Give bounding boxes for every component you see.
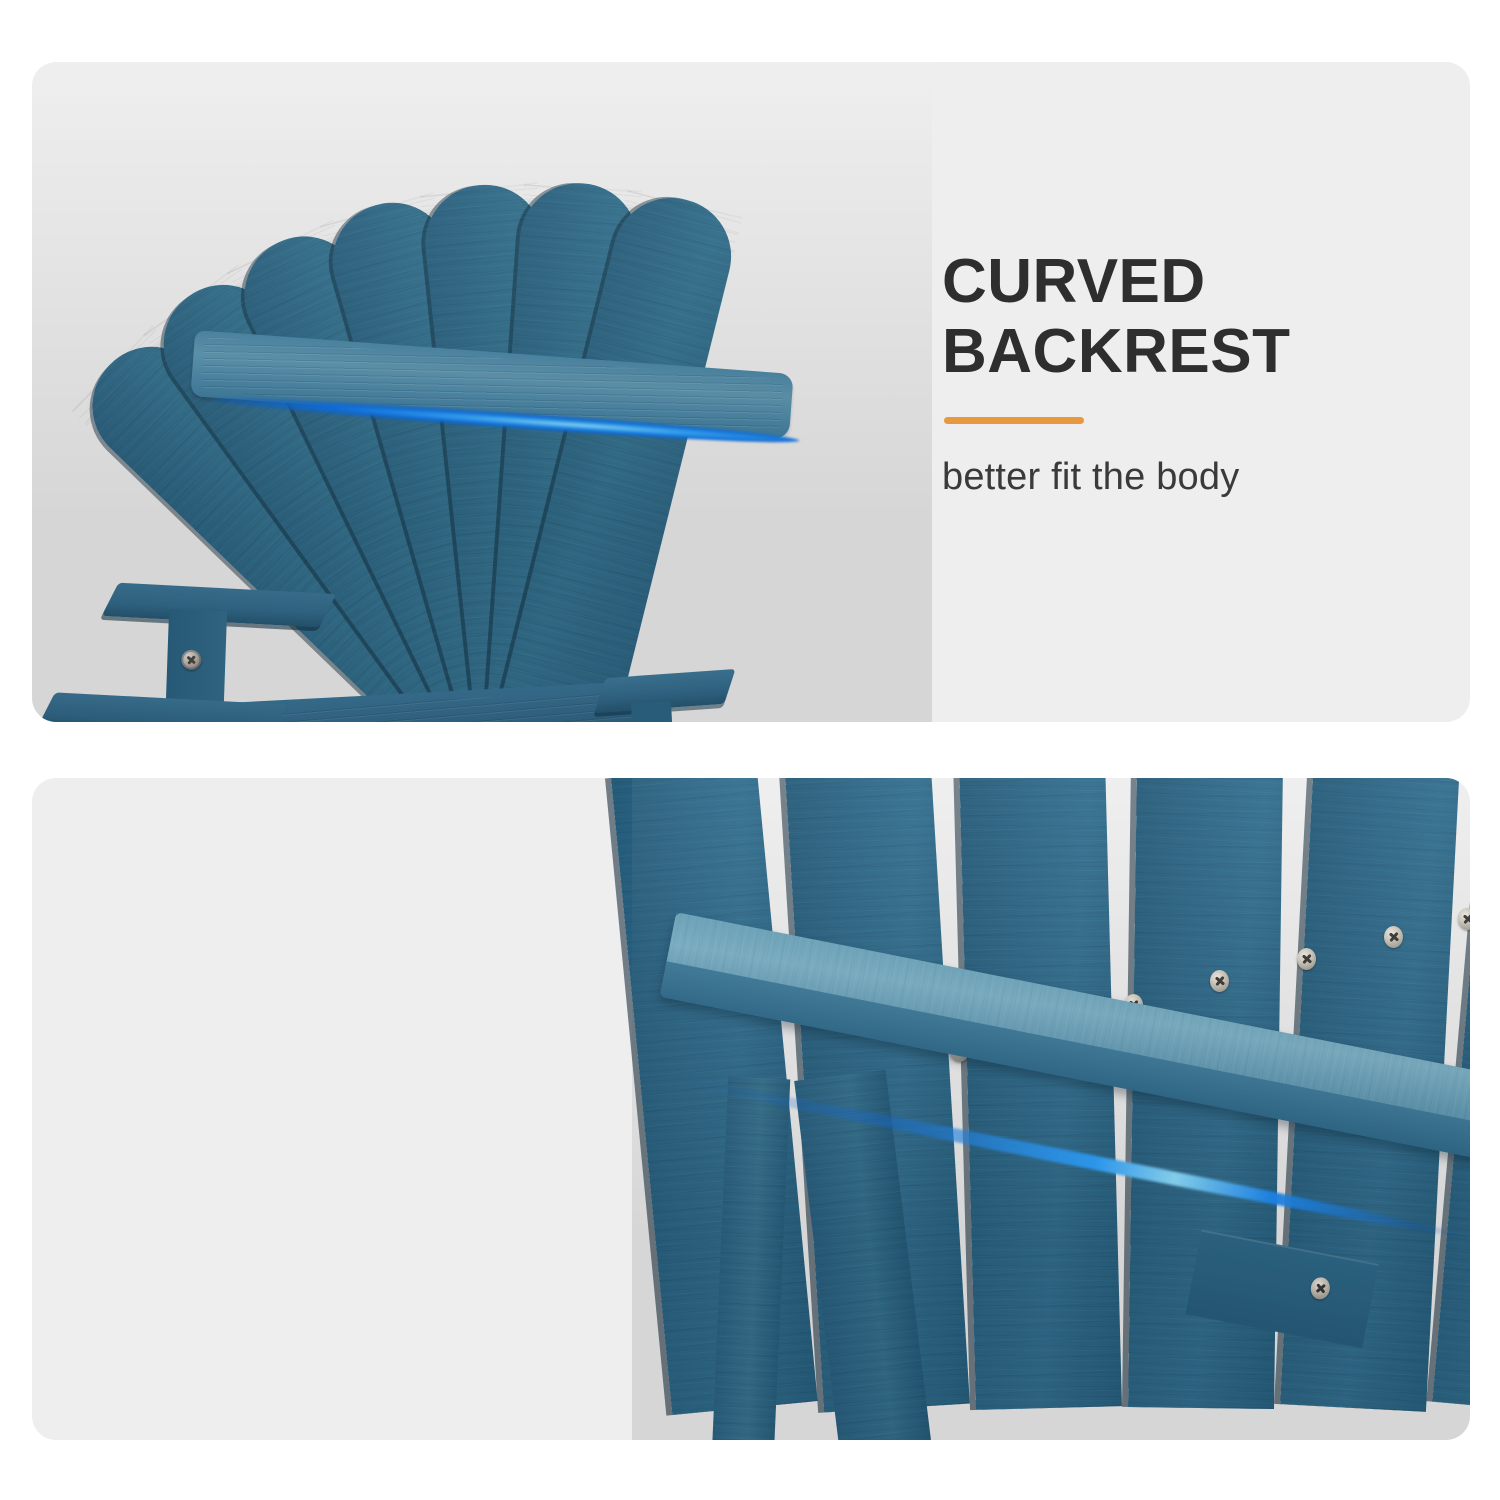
accent-rule [944, 417, 1084, 424]
feature-copy-curved-backrest: CURVED BACKREST better fit the body [942, 247, 1290, 499]
product-feature-infographic: CURVED BACKREST better fit the body [0, 0, 1500, 1500]
product-photo-wide-armrests [632, 778, 1470, 1440]
feature-headline: CURVED BACKREST [942, 247, 1290, 387]
feature-panel-curved-backrest: CURVED BACKREST better fit the body [32, 62, 1470, 722]
armrest-post-right [631, 701, 673, 722]
screw-icon [1309, 1276, 1332, 1301]
screw-icon [1384, 926, 1403, 948]
product-photo-curved-backrest [32, 62, 932, 722]
screw-icon [1210, 970, 1229, 992]
feature-subline: better fit the body [942, 456, 1290, 499]
feature-panel-wide-armrests: WIDE ARMRESTS for better arm relaxation [32, 778, 1470, 1440]
screw-icon [1297, 948, 1316, 970]
bolt-icon [181, 649, 202, 670]
backrest-slat [959, 778, 1122, 1410]
screw-icon [1458, 908, 1470, 930]
